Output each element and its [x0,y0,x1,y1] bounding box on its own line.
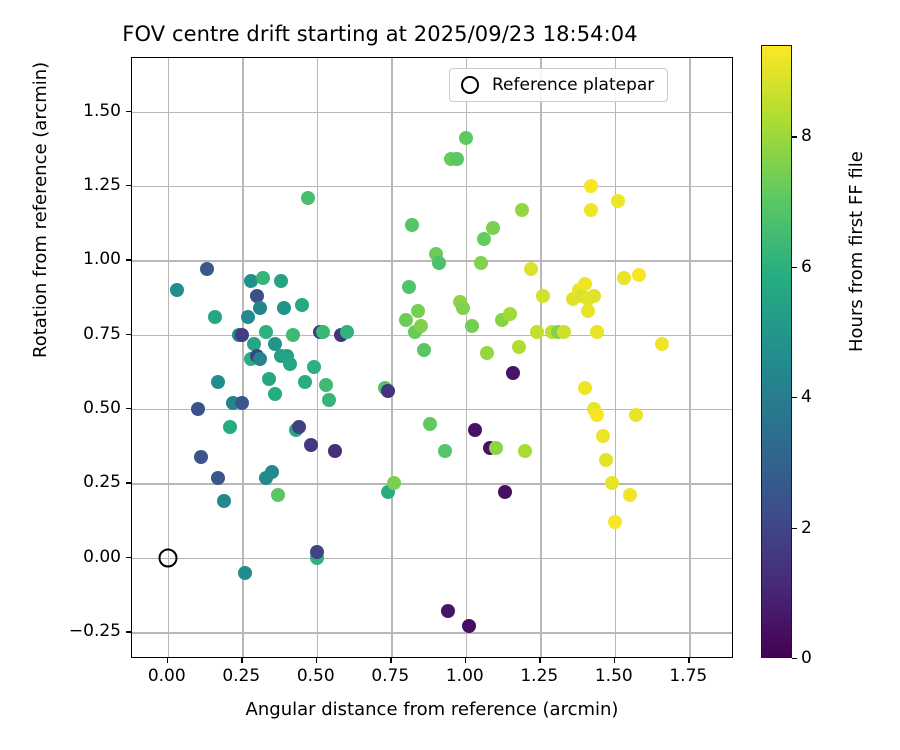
plot-axes [131,57,733,658]
scatter-point [590,408,604,422]
colorbar-tick [792,397,797,398]
scatter-point [596,429,610,443]
scatter-point [462,619,476,633]
scatter-point [498,485,512,499]
x-tick-label: 0.25 [222,666,260,686]
colorbar-tick-label: 0 [801,648,812,668]
x-tick-label: 0.50 [297,666,335,686]
scatter-point [608,515,622,529]
reference-platepar-point [158,548,177,567]
scatter-point [298,375,312,389]
scatter-point [262,372,276,386]
scatter-point [438,444,452,458]
scatter-point [381,384,395,398]
colorbar [761,45,792,658]
scatter-point [632,268,646,282]
colorbar-tick-label: 4 [801,387,812,407]
scatter-point [307,360,321,374]
scatter-point [530,325,544,339]
scatter-point [584,179,598,193]
scatter-point [411,304,425,318]
scatter-point [292,420,306,434]
y-tick-label: 1.00 [83,249,121,269]
scatter-point [489,441,503,455]
scatter-point [480,346,494,360]
x-tick-label: 0.00 [148,666,186,686]
scatter-point [301,191,315,205]
scatter-point [441,604,455,618]
scatter-point [623,488,637,502]
legend: Reference platepar [449,68,668,102]
y-tick [126,408,131,409]
scatter-point [524,262,538,276]
scatter-point [459,131,473,145]
scatter-point [277,301,291,315]
x-tick [614,658,615,663]
y-tick-label: 0.00 [83,547,121,567]
scatter-point [304,438,318,452]
scatter-point [310,545,324,559]
x-axis-label: Angular distance from reference (arcmin) [131,699,733,720]
scatter-point [170,283,184,297]
scatter-point [629,408,643,422]
scatter-point [423,417,437,431]
x-tick-label: 1.25 [520,666,558,686]
colorbar-tick [792,528,797,529]
scatter-point [468,423,482,437]
scatter-point [211,471,225,485]
scatter-point [584,203,598,217]
y-tick-label: 1.25 [83,175,121,195]
scatter-point [286,328,300,342]
scatter-layer [132,58,732,657]
scatter-point [328,444,342,458]
x-tick [167,658,168,663]
x-tick [465,658,466,663]
scatter-point [340,325,354,339]
scatter-point [456,301,470,315]
scatter-point [432,256,446,270]
scatter-point [515,203,529,217]
scatter-point [557,325,571,339]
scatter-point [319,378,333,392]
scatter-point [518,444,532,458]
x-tick-label: 1.00 [446,666,484,686]
scatter-point [655,337,669,351]
scatter-point [578,381,592,395]
y-tick-label: 0.50 [83,398,121,418]
scatter-point [271,488,285,502]
y-tick [126,185,131,186]
y-tick-label: 0.25 [83,472,121,492]
y-tick [126,482,131,483]
scatter-point [414,319,428,333]
scatter-point [253,301,267,315]
scatter-point [223,420,237,434]
colorbar-tick-label: 8 [801,126,812,146]
scatter-point [605,476,619,490]
x-tick [539,658,540,663]
colorbar-gradient [762,46,791,657]
scatter-point [587,289,601,303]
scatter-point [450,152,464,166]
scatter-point [295,298,309,312]
scatter-point [512,340,526,354]
colorbar-label: Hours from first FF file [846,151,867,352]
scatter-point [322,393,336,407]
scatter-point [241,310,255,324]
x-tick [688,658,689,663]
scatter-point [217,494,231,508]
scatter-point [474,256,488,270]
scatter-point [611,194,625,208]
scatter-point [191,402,205,416]
x-tick-label: 1.75 [669,666,707,686]
scatter-point [316,325,330,339]
scatter-point [268,387,282,401]
scatter-point [465,319,479,333]
y-tick [126,111,131,112]
scatter-point [211,375,225,389]
scatter-point [253,352,267,366]
y-tick-label: 1.50 [83,101,121,121]
y-tick-label: 0.75 [83,324,121,344]
y-axis-label: Rotation from reference (arcmin) [30,62,51,358]
scatter-point [503,307,517,321]
x-tick-label: 0.75 [371,666,409,686]
chart-title: FOV centre drift starting at 2025/09/23 … [0,22,760,46]
scatter-point [283,357,297,371]
scatter-point [402,280,416,294]
scatter-point [238,566,252,580]
scatter-point [256,271,270,285]
y-tick [126,334,131,335]
scatter-point [617,271,631,285]
y-tick [126,259,131,260]
scatter-point [506,366,520,380]
scatter-point [387,476,401,490]
scatter-point [200,262,214,276]
figure-canvas: FOV centre drift starting at 2025/09/23 … [0,0,900,750]
colorbar-tick [792,136,797,137]
x-tick [390,658,391,663]
scatter-point [486,221,500,235]
colorbar-tick [792,267,797,268]
scatter-point [274,274,288,288]
y-tick [126,557,131,558]
colorbar-tick [792,658,797,659]
scatter-point [235,396,249,410]
colorbar-tick-label: 6 [801,257,812,277]
x-tick [316,658,317,663]
y-tick [126,631,131,632]
x-tick-label: 1.50 [595,666,633,686]
scatter-point [581,304,595,318]
scatter-point [417,343,431,357]
colorbar-tick-label: 2 [801,518,812,538]
scatter-point [194,450,208,464]
scatter-point [590,325,604,339]
x-tick [241,658,242,663]
legend-entry-label: Reference platepar [492,75,654,95]
scatter-point [536,289,550,303]
scatter-point [599,453,613,467]
scatter-point [477,232,491,246]
y-tick-label: −0.25 [69,621,121,641]
scatter-point [208,310,222,324]
scatter-point [405,218,419,232]
reference-platepar-marker-icon [461,76,479,94]
scatter-point [265,465,279,479]
